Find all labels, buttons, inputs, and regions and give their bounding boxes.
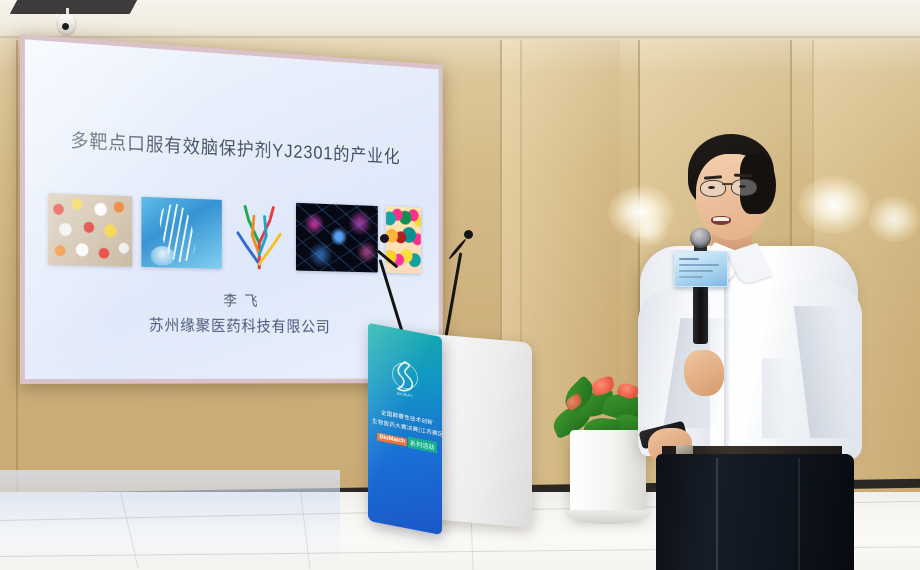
conference-room-photo: 多靶点口服有效脑保护剂YJ2301的产业化 <box>0 0 920 570</box>
wall-seam <box>16 40 18 510</box>
shirt-fold <box>762 358 790 438</box>
trousers <box>656 454 854 570</box>
eye <box>739 185 746 188</box>
ceiling-security-camera <box>58 14 75 34</box>
right-hand <box>684 350 724 396</box>
ceiling <box>0 0 920 40</box>
lectern: BioBAY 全国颠覆性技术创新 生物医药大赛决赛(江苏赛区) BioMatch… <box>360 330 555 530</box>
ceiling-air-vent <box>10 0 139 14</box>
mouth <box>711 216 731 225</box>
lectern-banner: BioBAY 全国颠覆性技术创新 生物医药大赛决赛(江苏赛区) BioMatch… <box>368 323 442 535</box>
microphone-flag <box>674 251 728 287</box>
microphone-capsule <box>464 230 473 239</box>
eye <box>708 186 715 189</box>
trouser-crease <box>798 458 800 570</box>
banner-sheen <box>368 323 442 535</box>
handheld-microphone <box>672 228 734 348</box>
trouser-crease <box>716 458 718 570</box>
microphone-capsule <box>380 234 389 243</box>
microphone-body <box>693 284 708 344</box>
microphone-head <box>690 228 711 248</box>
ceiling-edge <box>0 36 920 40</box>
eyeglasses-bridge <box>722 183 733 185</box>
presenter <box>612 128 912 570</box>
